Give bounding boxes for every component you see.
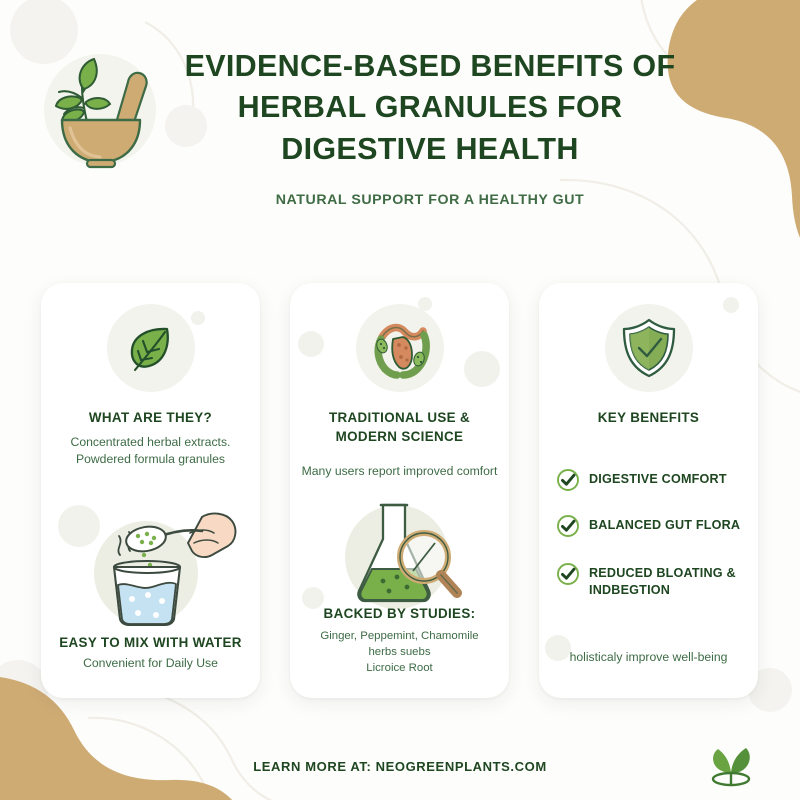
benefit-label: REDUCED BLOATING & INDBEGTION bbox=[589, 563, 746, 598]
hand-spoon-granules-into-water-glass-illustration bbox=[62, 489, 240, 627]
cards-row: WHAT ARE THEY? Concentrated herbal extra… bbox=[0, 283, 800, 703]
benefit-item[interactable]: REDUCED BLOATING & INDBEGTION bbox=[556, 563, 746, 598]
intestines-gut-icon bbox=[367, 317, 433, 379]
decorative-dot bbox=[464, 351, 500, 387]
leaf-icon-badge bbox=[107, 304, 195, 392]
gut-icon-badge bbox=[356, 304, 444, 392]
header: EVIDENCE-BASED BENEFITS OF HERBAL GRANUL… bbox=[0, 0, 800, 240]
card2-body: Many users report improved comfort bbox=[298, 463, 501, 480]
card-traditional-use-modern-science[interactable]: TRADITIONAL USE & MODERN SCIENCE Many us… bbox=[290, 283, 509, 698]
shield-icon-badge bbox=[605, 304, 693, 392]
title-block: EVIDENCE-BASED BENEFITS OF HERBAL GRANUL… bbox=[168, 46, 692, 208]
card2-footer-line-2: herbs suebs bbox=[368, 646, 430, 658]
mortar-and-pestle-with-herbs-icon bbox=[32, 42, 168, 178]
flask-with-magnifying-glass-illustration bbox=[325, 495, 475, 613]
card2-footer-heading: BACKED BY STUDIES: bbox=[300, 605, 499, 624]
card2-heading: TRADITIONAL USE & MODERN SCIENCE bbox=[300, 409, 499, 446]
sprout-seedling-icon bbox=[700, 735, 762, 791]
card1-body-line-1: Concentrated herbal extracts. bbox=[71, 435, 231, 449]
footer-learn-more-text[interactable]: LEARN MORE AT: NEOGREENPLANTS.COM bbox=[0, 759, 800, 774]
card2-heading-line-2: MODERN SCIENCE bbox=[336, 429, 464, 444]
card3-footer-body: holisticaly improve well-being bbox=[547, 649, 750, 666]
card2-footer-line-1: Ginger, Peppemint, Chamomile bbox=[320, 630, 478, 642]
page-title: EVIDENCE-BASED BENEFITS OF HERBAL GRANUL… bbox=[168, 46, 692, 170]
page-subtitle: NATURAL SUPPORT FOR A HEALTHY GUT bbox=[168, 192, 692, 208]
card1-body: Concentrated herbal extracts. Powdered f… bbox=[49, 434, 252, 469]
decorative-dot bbox=[723, 297, 739, 313]
footer: LEARN MORE AT: NEOGREENPLANTS.COM bbox=[0, 745, 800, 800]
leaf-icon bbox=[123, 320, 179, 376]
page-title-line-1: EVIDENCE-BASED BENEFITS OF bbox=[185, 49, 676, 83]
check-circle-icon bbox=[556, 562, 580, 586]
card-key-benefits[interactable]: KEY BENEFITS DIGESTIVE COMFORT BALANCED … bbox=[539, 283, 758, 698]
infographic-canvas: EVIDENCE-BASED BENEFITS OF HERBAL GRANUL… bbox=[0, 0, 800, 800]
page-title-line-2: HERBAL GRANULES FOR bbox=[238, 90, 623, 124]
card2-heading-line-1: TRADITIONAL USE & bbox=[329, 410, 470, 425]
decorative-dot bbox=[191, 311, 205, 325]
benefit-label: DIGESTIVE COMFORT bbox=[589, 469, 727, 488]
check-circle-icon bbox=[556, 468, 580, 492]
card-what-are-they[interactable]: WHAT ARE THEY? Concentrated herbal extra… bbox=[41, 283, 260, 698]
card1-footer-heading: EASY TO MIX WITH WATER bbox=[51, 634, 250, 653]
benefit-label: BALANCED GUT FLORA bbox=[589, 515, 740, 534]
page-title-line-3: DIGESTIVE HEALTH bbox=[281, 132, 578, 166]
decorative-dot bbox=[298, 331, 324, 357]
benefit-item[interactable]: DIGESTIVE COMFORT bbox=[556, 469, 746, 492]
check-circle-icon bbox=[556, 514, 580, 538]
benefit-item[interactable]: BALANCED GUT FLORA bbox=[556, 515, 746, 538]
card1-heading: WHAT ARE THEY? bbox=[51, 409, 250, 428]
card2-footer-line-3: Licroice Root bbox=[366, 662, 432, 674]
card2-footer-body: Ginger, Peppemint, Chamomile herbs suebs… bbox=[298, 628, 501, 677]
card1-footer-body: Convenient for Daily Use bbox=[49, 655, 252, 672]
shield-with-checkmark-icon bbox=[620, 317, 678, 379]
card3-heading: KEY BENEFITS bbox=[549, 409, 748, 428]
card1-body-line-2: Powdered formula granules bbox=[76, 452, 225, 466]
